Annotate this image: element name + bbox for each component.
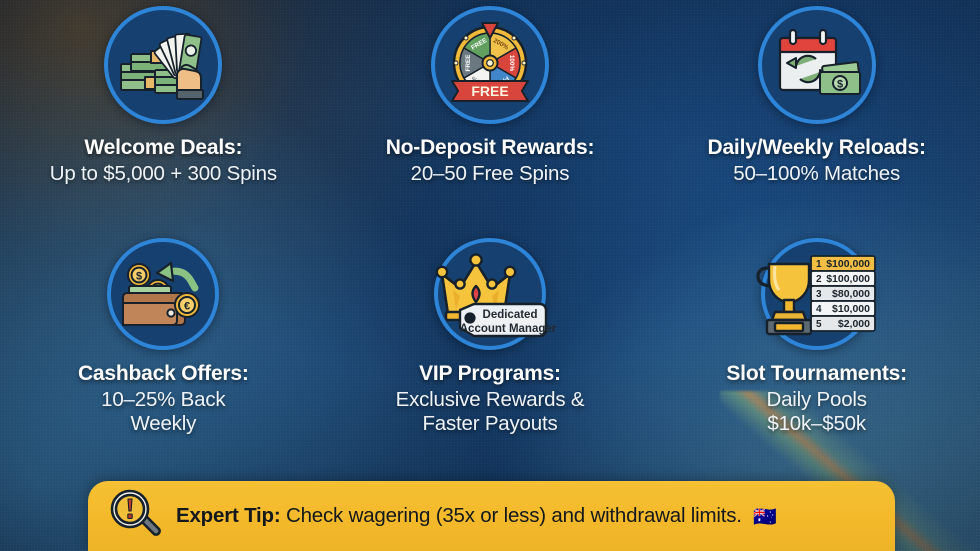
feature-card-daily-weekly-reloads[interactable]: $ Daily/Weekly Reloads: 50–100% Matches — [653, 6, 980, 238]
feature-subtitle: 50–100% Matches — [707, 162, 925, 186]
leaderboard-prize: $100,000 — [826, 258, 870, 270]
calendar-reload-cash-icon: $ — [758, 6, 876, 124]
feature-title: Slot Tournaments: — [726, 362, 907, 386]
feature-title: Cashback Offers: — [78, 362, 249, 386]
svg-text:$: $ — [837, 79, 843, 91]
svg-text:FREE: FREE — [465, 54, 472, 72]
feature-card-cashback-offers[interactable]: $ $ € — [0, 238, 327, 470]
leaderboard-rank: 1 — [816, 259, 822, 270]
feature-subtitle: Exclusive Rewards & — [396, 388, 585, 412]
expert-tip-body: Check wagering (35x or less) and withdra… — [286, 504, 742, 527]
feature-title: Daily/Weekly Reloads: — [707, 136, 925, 160]
feature-subtitle: 10–25% Back — [78, 388, 249, 412]
leaderboard-prize: $10,000 — [832, 303, 870, 315]
expert-tip-banner[interactable]: Expert Tip: Check wagering (35x or less)… — [88, 481, 895, 551]
feature-text-block: Slot Tournaments: Daily Pools $10k–$50k — [726, 362, 907, 436]
svg-text:€: € — [184, 301, 190, 313]
svg-text:100%: 100% — [508, 55, 515, 72]
feature-subtitle: 20–50 Free Spins — [386, 162, 595, 186]
vip-tag-line2: Account Manager — [460, 323, 557, 335]
cash-stack-hand-icon — [104, 6, 222, 124]
feature-text-block: No-Deposit Rewards: 20–50 Free Spins — [386, 136, 595, 186]
wallet-coins-return-icon: $ $ € — [107, 238, 219, 350]
leaderboard-rank: 4 — [816, 304, 822, 315]
expert-tip-label: Expert Tip: — [176, 504, 281, 527]
australia-flag-icon: 🇦🇺 — [753, 507, 776, 528]
feature-text-block: Welcome Deals: Up to $5,000 + 300 Spins — [50, 136, 277, 186]
feature-text-block: VIP Programs: Exclusive Rewards & Faster… — [396, 362, 585, 436]
leaderboard-rank: 3 — [816, 289, 822, 300]
magnifier-alert-icon — [108, 487, 164, 548]
leaderboard-rank: 5 — [816, 319, 822, 330]
expert-tip-text: Expert Tip: Check wagering (35x or less)… — [176, 504, 777, 529]
infographic-canvas: Welcome Deals: Up to $5,000 + 300 Spins — [0, 0, 980, 551]
trophy-leaderboard-icon: 1 2 3 4 5 $100,000 $100,000 $80,000 $10,… — [761, 238, 873, 350]
feature-card-welcome-deals[interactable]: Welcome Deals: Up to $5,000 + 300 Spins — [0, 6, 327, 238]
feature-card-no-deposit-rewards[interactable]: 200% 100% FREE 100% FREE FREE — [327, 6, 654, 238]
feature-subtitle-line2: Faster Payouts — [396, 412, 585, 436]
feature-subtitle: Up to $5,000 + 300 Spins — [50, 162, 277, 186]
crown-tag-icon: Dedicated Account Manager — [434, 238, 546, 350]
feature-subtitle-line2: Weekly — [78, 412, 249, 436]
feature-text-block: Cashback Offers: 10–25% Back Weekly — [78, 362, 249, 436]
feature-title: Welcome Deals: — [50, 136, 277, 160]
feature-title: No-Deposit Rewards: — [386, 136, 595, 160]
feature-grid: Welcome Deals: Up to $5,000 + 300 Spins — [0, 6, 980, 470]
leaderboard-prize: $2,000 — [838, 318, 870, 330]
svg-text:FREE: FREE — [471, 83, 508, 99]
feature-title: VIP Programs: — [396, 362, 585, 386]
feature-card-slot-tournaments[interactable]: 1 2 3 4 5 $100,000 $100,000 $80,000 $10,… — [653, 238, 980, 470]
prize-wheel-free-icon: 200% 100% FREE 100% FREE FREE — [431, 6, 549, 124]
svg-text:$: $ — [136, 271, 142, 283]
leaderboard-prize: $100,000 — [826, 273, 870, 285]
leaderboard-rank: 2 — [816, 274, 822, 285]
vip-tag-line1: Dedicated — [483, 309, 538, 321]
leaderboard-prize: $80,000 — [832, 288, 870, 300]
feature-subtitle: Daily Pools — [726, 388, 907, 412]
feature-text-block: Daily/Weekly Reloads: 50–100% Matches — [707, 136, 925, 186]
feature-subtitle-line2: $10k–$50k — [726, 412, 907, 436]
feature-card-vip-programs[interactable]: Dedicated Account Manager VIP Programs: … — [327, 238, 654, 470]
